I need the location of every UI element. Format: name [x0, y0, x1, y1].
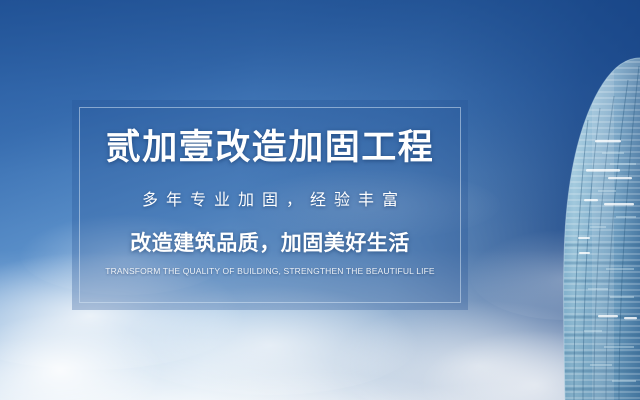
hero-banner: 贰加壹改造加固工程 多年专业加固，经验丰富 改造建筑品质，加固美好生活 TRAN… — [0, 0, 640, 400]
tower-body — [540, 0, 640, 400]
hero-text-panel: 贰加壹改造加固工程 多年专业加固，经验丰富 改造建筑品质，加固美好生活 TRAN… — [72, 100, 468, 310]
hero-tagline-english: TRANSFORM THE QUALITY OF BUILDING, STREN… — [105, 267, 435, 276]
skyscraper-graphic — [540, 0, 640, 400]
hero-text-content: 贰加壹改造加固工程 多年专业加固，经验丰富 改造建筑品质，加固美好生活 TRAN… — [72, 100, 468, 310]
hero-subtitle: 多年专业加固，经验丰富 — [134, 193, 406, 209]
hero-tagline: 改造建筑品质，加固美好生活 — [130, 233, 410, 254]
page-title: 贰加壹改造加固工程 — [106, 130, 435, 165]
skyscraper-image — [540, 0, 640, 400]
